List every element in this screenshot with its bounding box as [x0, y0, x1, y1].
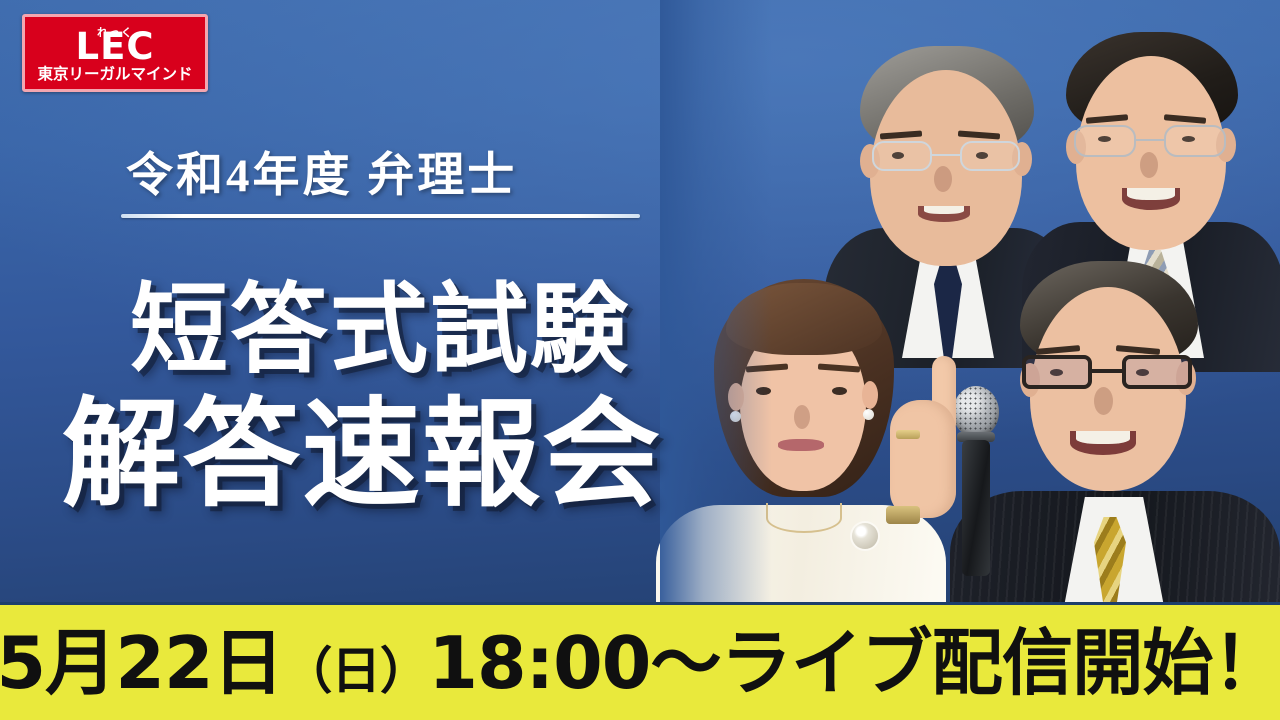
schedule-banner: 5月22日（日）18:00〜ライブ配信開始！: [0, 602, 1280, 720]
eye-left: [756, 387, 771, 395]
teeth: [924, 206, 964, 214]
logo-wordmark-area: れっく LEC: [25, 23, 205, 67]
title-line-2: 解答速報会: [62, 358, 662, 529]
floral-brooch: [852, 523, 878, 549]
wristwatch: [886, 506, 920, 524]
schedule-banner-text: 5月22日（日）18:00〜ライブ配信開始！: [0, 627, 1280, 699]
glasses-bridge: [1136, 139, 1166, 141]
lens-left: [1022, 355, 1092, 389]
logo-subtitle: 東京リーガルマインド: [37, 66, 192, 84]
kicker-underline: [121, 214, 640, 218]
instructor-4: [970, 245, 1250, 610]
nose: [794, 405, 810, 429]
banner-weekday: （日）: [283, 642, 429, 700]
hair-fringe: [726, 283, 882, 355]
pearl-earring-right: [863, 409, 874, 420]
banner-date: 5月22日: [0, 621, 283, 705]
teeth: [1127, 188, 1175, 200]
ear-left: [728, 383, 744, 411]
eyeglasses: [1072, 122, 1230, 160]
banner-tilde: 〜: [651, 621, 721, 705]
kicker-text: 令和4年度 弁理士: [126, 136, 646, 205]
mic-grille: [953, 386, 999, 438]
ear-right: [862, 381, 878, 409]
lens-left: [1074, 125, 1136, 157]
necklace: [766, 503, 842, 533]
eyeglasses: [868, 138, 1026, 174]
eyeglasses: [1022, 353, 1194, 395]
mouth: [778, 439, 824, 451]
lens-right: [960, 141, 1020, 171]
promo-banner-stage: れっく LEC 東京リーガルマインド: [0, 0, 1280, 720]
instructors-photo: [660, 0, 1280, 610]
logo-wordmark: LEC: [75, 27, 154, 67]
hand-holding-microphone: [890, 400, 956, 518]
lens-right: [1122, 355, 1192, 389]
pearl-earring-left: [730, 411, 741, 422]
mic-body: [962, 440, 990, 576]
banner-time: 18:00: [429, 621, 651, 705]
glasses-bridge: [1092, 369, 1124, 373]
lec-logo: れっく LEC 東京リーガルマインド: [22, 14, 208, 92]
teeth: [1076, 431, 1130, 444]
eye-right: [832, 387, 847, 395]
finger-ring: [896, 430, 920, 439]
banner-message: ライブ配信開始！: [721, 621, 1280, 705]
glasses-bridge: [932, 154, 962, 156]
handheld-microphone: [960, 386, 992, 576]
lens-left: [872, 141, 932, 171]
lens-right: [1164, 125, 1226, 157]
